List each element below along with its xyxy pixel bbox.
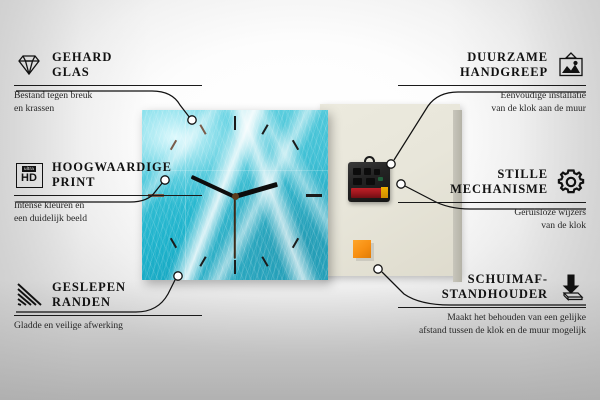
feature-header: DUURZAME HANDGREEP [398, 48, 586, 82]
feature-description: Gladde en veilige afwerking [14, 320, 202, 333]
feature-description: Eenvoudige installatie van de klok aan d… [398, 90, 586, 116]
battery-terminal [381, 187, 388, 198]
clock-second-hand [234, 196, 236, 258]
feature-title: HOOGWAARDIGE PRINT [52, 160, 172, 190]
feature-title: DUURZAME HANDGREEP [460, 50, 548, 80]
mechanism-detail [364, 168, 371, 175]
feature-title: GEHARD GLAS [52, 50, 112, 80]
hd-badge-hd-label: HD [21, 173, 37, 184]
mechanism-detail [378, 177, 383, 181]
feature-header: GESLEPEN RANDEN [14, 278, 202, 312]
feature-schuimafstandhouder: SCHUIMAF- STANDHOUDER Maakt het behouden… [398, 270, 586, 338]
feature-header: ultra HD HOOGWAARDIGE PRINT [14, 158, 202, 192]
feature-header: SCHUIMAF- STANDHOUDER [398, 270, 586, 304]
feature-divider [398, 202, 586, 203]
feature-title: GESLEPEN RANDEN [52, 280, 126, 310]
mechanism-detail [366, 178, 375, 185]
mechanism-detail [353, 178, 362, 185]
mechanism-detail [374, 169, 380, 175]
hd-badge: ultra HD [16, 163, 43, 188]
feature-description: Maakt het behouden van een gelijke afsta… [398, 312, 586, 338]
feature-description: Geruisloze wijzers van de klok [398, 207, 586, 233]
hd-badge-ultra-label: ultra [22, 166, 36, 172]
infographic-stage: GEHARD GLAS Bestand tegen breuk en krass… [0, 0, 600, 400]
hanging-picture-frame-icon [556, 50, 586, 80]
feature-stille-mechanisme: STILLE MECHANISME Geruisloze wijzers van… [398, 165, 586, 233]
feature-duurzame-handgreep: DUURZAME HANDGREEP Eenvoudige installati… [398, 48, 586, 116]
feature-geslepen-randen: GESLEPEN RANDEN Gladde en veilige afwerk… [14, 278, 202, 333]
mechanism-detail [353, 168, 361, 175]
feature-divider [398, 307, 586, 308]
clock-hand-cap [232, 193, 239, 200]
diamond-icon [14, 50, 44, 80]
foam-spacer-pad [353, 240, 371, 258]
clock-tick [306, 194, 322, 197]
feature-header: STILLE MECHANISME [398, 165, 586, 199]
beveled-edge-icon [14, 280, 44, 310]
down-arrow-pad-icon [556, 272, 586, 302]
feature-title: SCHUIMAF- STANDHOUDER [442, 272, 548, 302]
clock-tick [234, 116, 236, 130]
feature-header: GEHARD GLAS [14, 48, 202, 82]
clock-tick [234, 260, 236, 274]
feature-hoogwaardige-print: ultra HD HOOGWAARDIGE PRINT Intense kleu… [14, 158, 202, 226]
feature-divider [14, 85, 202, 86]
feature-divider [398, 85, 586, 86]
gear-icon [556, 167, 586, 197]
feature-title: STILLE MECHANISME [450, 167, 548, 197]
feature-gehard-glas: GEHARD GLAS Bestand tegen breuk en krass… [14, 48, 202, 116]
ultra-hd-badge-icon: ultra HD [14, 160, 44, 190]
feature-divider [14, 195, 202, 196]
feature-description: Intense kleuren en een duidelijk beeld [14, 200, 202, 226]
feature-divider [14, 315, 202, 316]
feature-description: Bestand tegen breuk en krassen [14, 90, 202, 116]
